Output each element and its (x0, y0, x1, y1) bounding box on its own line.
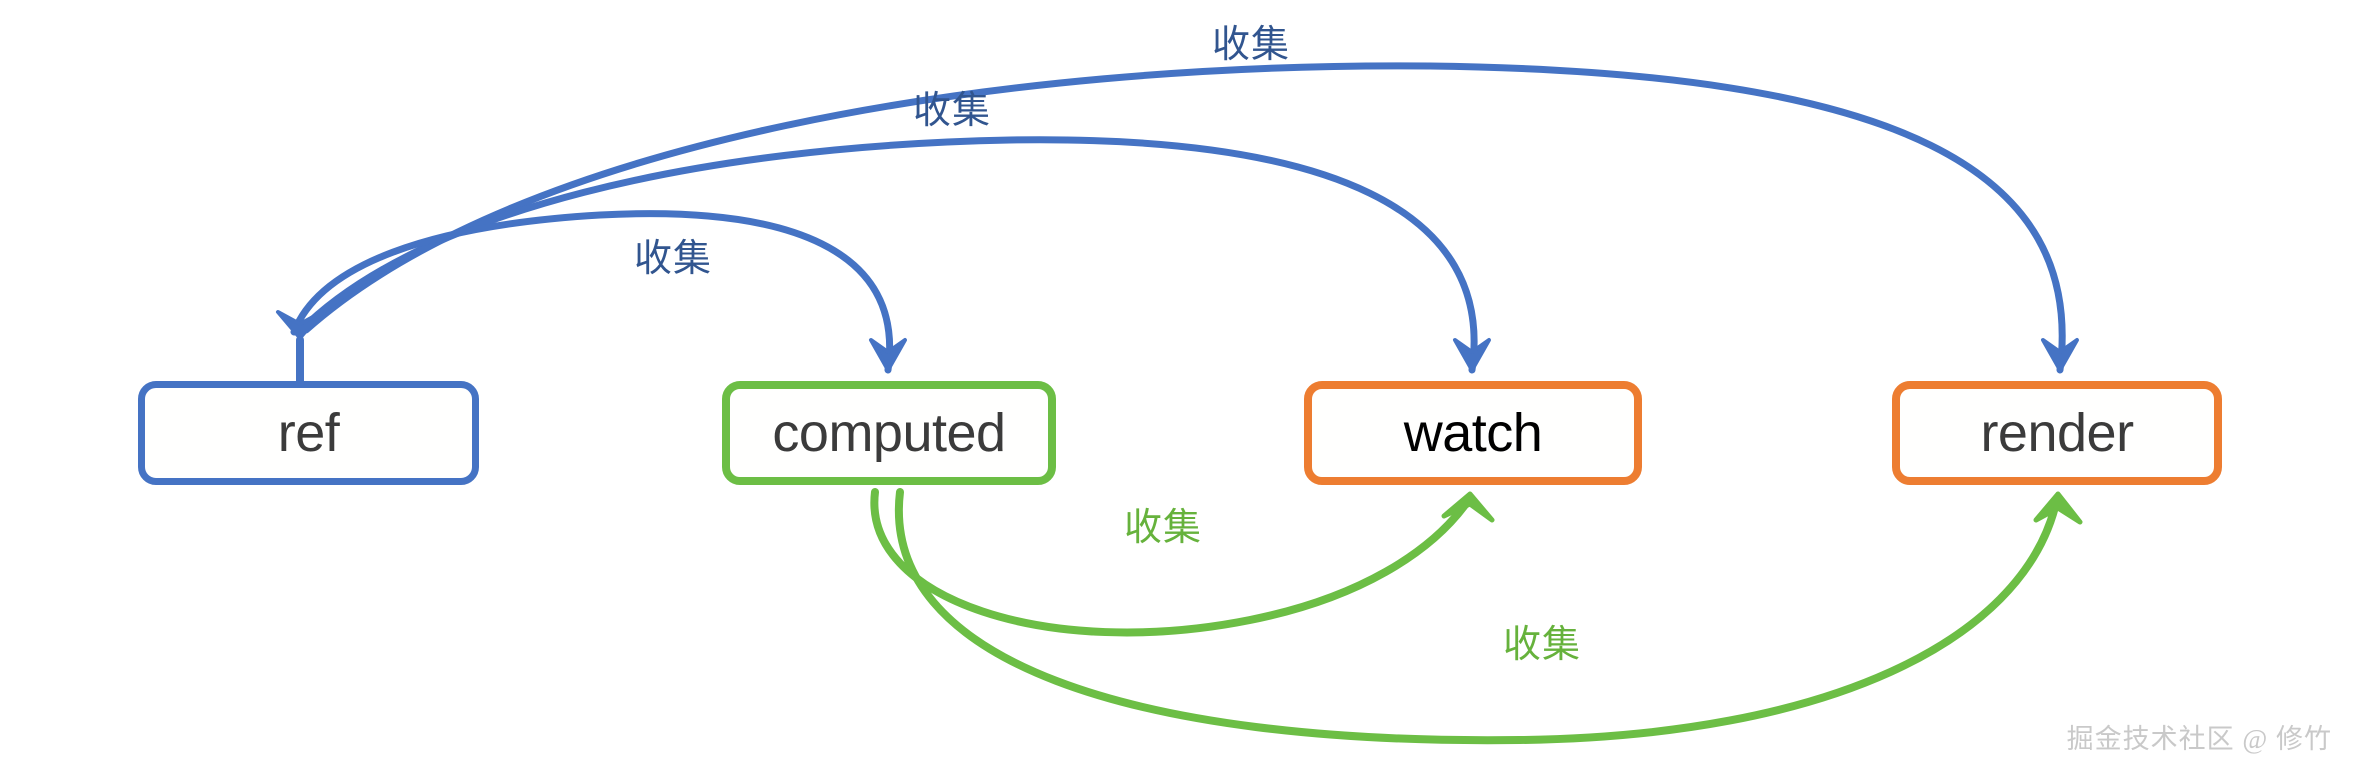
edge-label-computed-to-watch: 收集 (1124, 509, 1202, 547)
arrowhead-into-ref (278, 312, 322, 382)
node-ref-label: ref (278, 406, 340, 460)
edge-label-computed-to-render: 收集 (1503, 626, 1581, 664)
edge-label-computed-to-ref: 收集 (634, 240, 712, 278)
node-render[interactable]: render (1892, 381, 2222, 485)
edge-computed-to-ref (294, 214, 905, 370)
node-ref[interactable]: ref (138, 381, 479, 485)
node-watch[interactable]: watch (1304, 381, 1642, 485)
edge-computed-to-render (899, 492, 2080, 740)
node-computed[interactable]: computed (722, 381, 1056, 485)
node-render-label: render (1980, 406, 2133, 460)
node-computed-label: computed (772, 406, 1005, 460)
edge-label-watch-to-ref: 收集 (913, 92, 991, 130)
node-watch-label: watch (1404, 406, 1543, 460)
edge-label-render-to-ref: 收集 (1212, 26, 1290, 64)
edge-watch-to-ref (300, 140, 1489, 370)
diagram-canvas: ref computed watch render 收集 收集 收集 收集 收集… (0, 0, 2354, 770)
watermark: 掘金技术社区 @ 修竹 (2067, 717, 2332, 756)
